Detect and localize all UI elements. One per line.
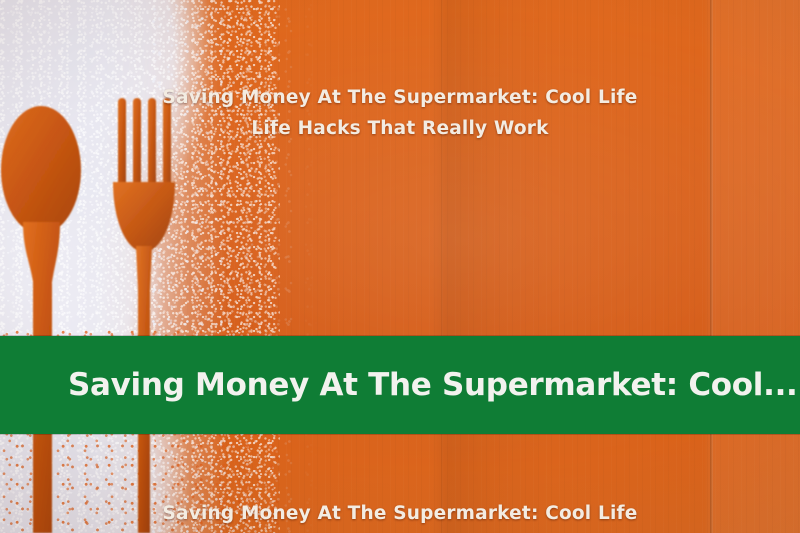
footer-caption: Saving Money At The Supermarket: Cool Li… <box>0 503 800 524</box>
thumbnail-card: Saving Money At The Supermarket: Cool Li… <box>0 0 800 533</box>
title-banner[interactable]: Saving Money At The Supermarket: Cool... <box>0 336 800 434</box>
background-vignette <box>0 0 800 533</box>
banner-title: Saving Money At The Supermarket: Cool... <box>0 367 798 403</box>
